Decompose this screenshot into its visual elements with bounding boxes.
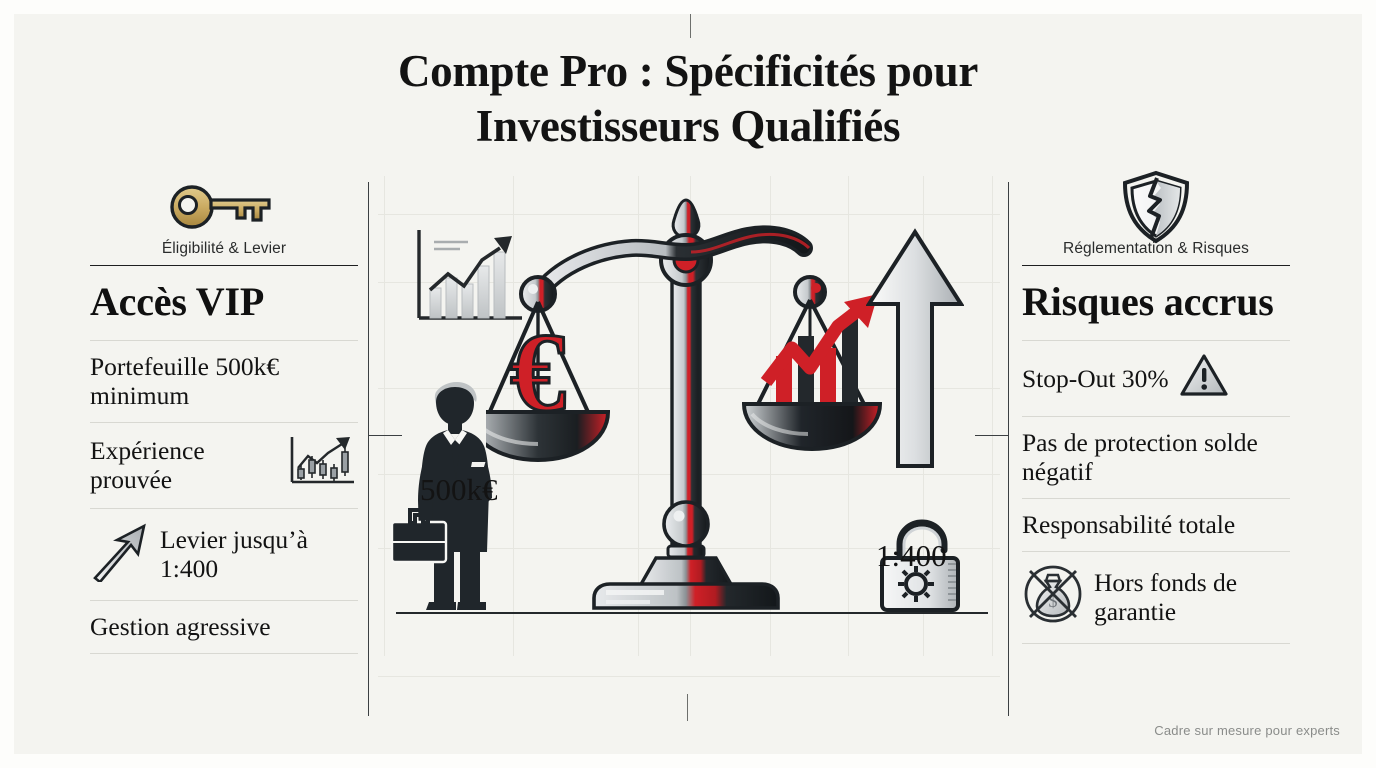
footer-note: Cadre sur mesure pour experts	[1154, 723, 1340, 738]
left-column-divider	[368, 182, 369, 716]
list-item-label: Gestion agressive	[90, 612, 271, 641]
grid-line-vertical	[384, 176, 385, 656]
list-item[interactable]: Pas de protection solde négatif	[1022, 417, 1290, 499]
left-divider-tick	[368, 435, 402, 436]
list-item-label: Levier jusqu’à 1:400	[160, 525, 358, 583]
no-guarantee-fund-icon: $	[1022, 563, 1084, 631]
list-item[interactable]: $ Hors fonds de garantie	[1022, 552, 1290, 644]
center-label-minimum-capital: 500k€	[420, 472, 498, 508]
red-growth-chart-icon	[766, 294, 878, 410]
up-arrow-icon	[866, 228, 964, 481]
page-title-line-2: Investisseurs Qualifiés	[0, 99, 1376, 154]
key-icon	[90, 180, 358, 234]
warning-triangle-icon	[1179, 352, 1229, 404]
ground-baseline	[396, 612, 988, 614]
list-item-label: Hors fonds de garantie	[1094, 568, 1290, 626]
infographic-canvas: Compte Pro : Spécificités pour Investiss…	[0, 0, 1376, 768]
right-column: Réglementation & Risques Risques accrus …	[1022, 180, 1290, 644]
list-item[interactable]: Stop-Out 30%	[1022, 341, 1290, 417]
right-column-headline: Risques accrus	[1022, 266, 1290, 341]
top-center-tick	[690, 0, 691, 38]
list-item[interactable]: Expérience prouvée	[90, 423, 358, 509]
left-column-headline: Accès VIP	[90, 266, 358, 341]
left-column-kicker: Éligibilité & Levier	[90, 240, 358, 266]
list-item-label: Pas de protection solde négatif	[1022, 428, 1290, 486]
list-item[interactable]: Responsabilité totale	[1022, 499, 1290, 552]
bottom-center-tick	[687, 694, 688, 721]
arrow-up-right-icon	[90, 520, 150, 588]
right-divider-tick	[975, 435, 1009, 436]
page-title: Compte Pro : Spécificités pour Investiss…	[0, 44, 1376, 154]
list-item-label: Responsabilité totale	[1022, 510, 1235, 539]
central-illustration: 500k€	[378, 176, 1000, 720]
list-item-label: Stop-Out 30%	[1022, 364, 1169, 393]
page-title-line-1: Compte Pro : Spécificités pour	[398, 46, 978, 96]
candlestick-chart-icon	[286, 434, 358, 496]
center-label-leverage: 1:400	[876, 538, 947, 574]
list-item[interactable]: Levier jusqu’à 1:400	[90, 509, 358, 601]
broken-shield-icon	[1022, 180, 1290, 234]
grid-line-horizontal	[378, 676, 1000, 677]
left-column: Éligibilité & Levier Accès VIP Portefeui…	[90, 180, 358, 654]
list-item-label: Expérience prouvée	[90, 436, 266, 494]
right-column-kicker: Réglementation & Risques	[1022, 240, 1290, 266]
list-item-label: Portefeuille 500k€ minimum	[90, 352, 358, 410]
balance-scale-icon: €	[486, 198, 886, 623]
list-item[interactable]: Gestion agressive	[90, 601, 358, 654]
list-item[interactable]: Portefeuille 500k€ minimum	[90, 341, 358, 423]
grid-line-vertical	[992, 176, 993, 656]
right-column-divider	[1008, 182, 1009, 716]
